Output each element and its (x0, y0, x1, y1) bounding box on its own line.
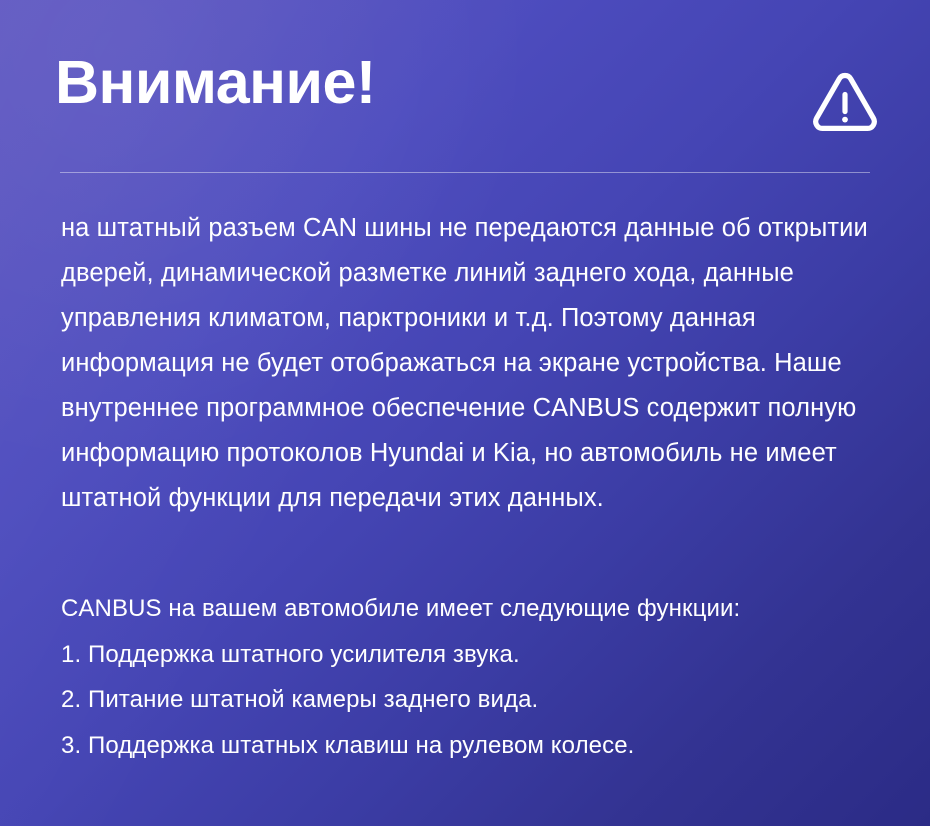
warning-banner: Внимание! на штатный разъем CAN шины не … (0, 0, 930, 826)
header-divider (60, 172, 870, 173)
list-item: 3. Поддержка штатных клавиш на рулевом к… (61, 723, 891, 769)
page-title: Внимание! (55, 52, 376, 113)
intro-paragraph: на штатный разъем CAN шины не передаются… (61, 206, 881, 521)
list-item: 2. Питание штатной камеры заднего вида. (61, 677, 891, 723)
banner-header: Внимание! (0, 0, 930, 176)
list-item: 1. Поддержка штатного усилителя звука. (61, 632, 891, 678)
warning-triangle-icon (812, 70, 878, 132)
functions-block: CANBUS на вашем автомобиле имеет следующ… (61, 586, 891, 768)
functions-heading: CANBUS на вашем автомобиле имеет следующ… (61, 586, 891, 632)
